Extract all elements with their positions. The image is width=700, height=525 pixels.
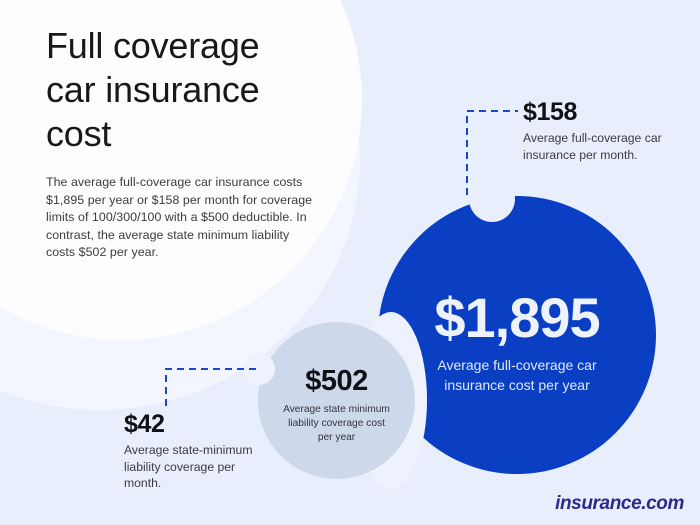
callout-caption: Average full-coverage car insurance per … <box>523 130 688 163</box>
callout-amount: $42 <box>124 410 254 438</box>
callout-monthly-minimum-liability: $42 Average state-minimum liability cove… <box>124 410 254 492</box>
leader-line-monthly-full-coverage-icon <box>466 110 518 196</box>
primary-cost-caption: Average full-coverage car insurance cost… <box>417 355 617 395</box>
callout-amount: $158 <box>523 98 688 126</box>
callout-monthly-full-coverage: $158 Average full-coverage car insurance… <box>523 98 688 163</box>
infographic-canvas: Full coverage car insurance cost The ave… <box>0 0 700 525</box>
brand-logo[interactable]: insurance.com <box>555 493 684 515</box>
secondary-cost-caption: Average state minimum liability coverage… <box>283 403 391 445</box>
primary-cost-amount: $1,895 <box>434 289 599 347</box>
primary-cost-label-group: $1,895 Average full-coverage car insuran… <box>378 196 656 474</box>
page-title: Full coverage car insurance cost <box>46 24 318 156</box>
secondary-cost-label-group: $502 Average state minimum liability cov… <box>258 322 415 479</box>
headline-block: Full coverage car insurance cost The ave… <box>46 24 318 262</box>
callout-caption: Average state-minimum liability coverage… <box>124 442 254 492</box>
intro-paragraph: The average full-coverage car insurance … <box>46 174 318 262</box>
leader-line-monthly-minimum-liability-icon <box>165 368 257 406</box>
secondary-cost-amount: $502 <box>305 365 368 397</box>
